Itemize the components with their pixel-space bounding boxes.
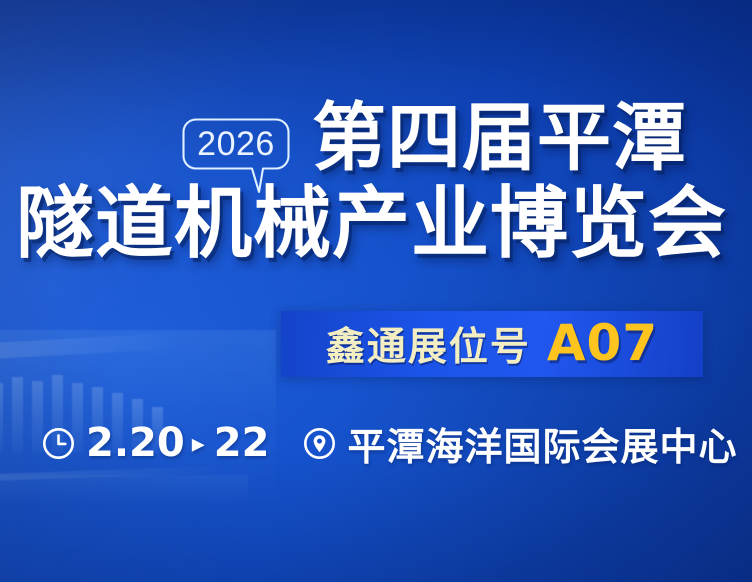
venue-text: 平潭海洋国际会展中心 [347,416,737,471]
booth-label: 鑫通展位号 [326,316,531,372]
background-vignette [0,0,752,582]
clock-icon [42,427,75,460]
booth-number-band: 鑫通展位号 A07 [281,311,703,377]
date-item: 2.20▸22 [42,420,269,466]
booth-code: A07 [547,314,658,372]
info-row: 2.20▸22 平潭海洋国际会展中心 [0,415,752,471]
date-start: 2.20 [86,420,185,466]
date-text: 2.20▸22 [86,420,269,466]
date-separator: ▸ [192,429,205,459]
headline-line-2: 隧道机械产业博览会 [0,180,752,268]
venue-item: 平潭海洋国际会展中心 [303,416,737,471]
exhibition-banner: 2026 第四届平潭 隧道机械产业博览会 鑫通展位号 A07 2.20▸22 [0,0,752,582]
headline: 第四届平潭 隧道机械产业博览会 [0,96,752,268]
headline-line-1: 第四届平潭 [0,96,752,180]
date-end: 22 [214,420,270,466]
location-pin-icon [303,427,336,460]
